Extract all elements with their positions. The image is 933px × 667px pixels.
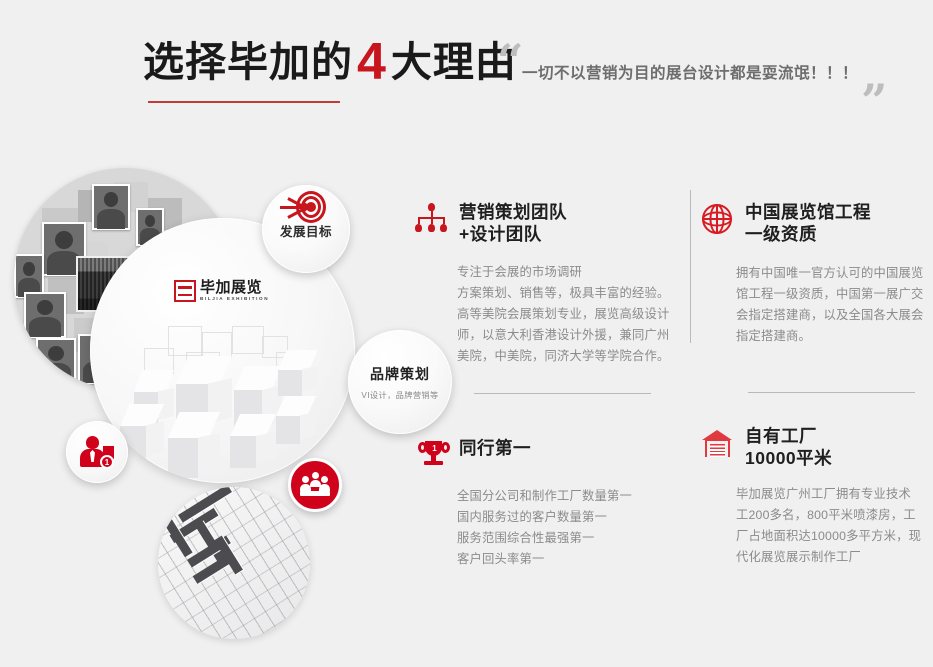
- page-title: 选择毕加的4大理由: [143, 36, 517, 88]
- title-line-1: 营销策划团队: [459, 202, 567, 222]
- feature-body-marketing: 专注于会展的市场调研 方案策划、销售等，极具丰富的经验。 高等美院会展策划专业，…: [457, 262, 654, 368]
- title-line-1: 自有工厂: [745, 426, 817, 446]
- title-line-1: 中国展览馆工程: [745, 202, 871, 222]
- title-underline: [148, 101, 340, 103]
- logo-name-cn: 毕加展览: [200, 280, 269, 295]
- feature-title-factory: 自有工厂 10000平米: [745, 425, 832, 470]
- body-line: 指定搭建商。: [736, 326, 915, 347]
- logo-name-en: BILJIA EXHIBITION: [200, 297, 269, 302]
- factory-icon: [700, 427, 734, 461]
- header-quote-text: 一切不以营销为目的展台设计都是耍流氓！！！: [522, 61, 858, 83]
- page-title-number: 4: [353, 33, 391, 91]
- photo-thumb: [92, 184, 130, 230]
- body-line: 厂占地面积达10000多平方米，现: [736, 526, 915, 547]
- badge-team[interactable]: [288, 458, 342, 512]
- body-line: 方案策划、销售等，极具丰富的经验。: [457, 283, 654, 304]
- body-line: 会指定搭建商，以及全国各大展会: [736, 305, 915, 326]
- column-divider: [690, 190, 691, 343]
- exhibition-cubes-graphic: [116, 326, 331, 476]
- body-line: 馆工程一级资质，中国第一展广交: [736, 284, 915, 305]
- trophy-icon: 1: [414, 439, 448, 473]
- body-line: 拥有中国唯一官方认可的中国展览: [736, 263, 915, 284]
- person-medal-icon: 1: [80, 436, 114, 468]
- feature-block-peer-first: 1 同行第一 全国分公司和制作工厂数量第一 国内服务过的客户数量第一 服务范围综…: [414, 437, 654, 571]
- badge-goal[interactable]: 发展目标: [262, 185, 350, 273]
- badge-brand-sublabel: VI设计，品牌营销等: [361, 389, 438, 401]
- feature-title-qualification: 中国展览馆工程 一级资质: [745, 201, 871, 246]
- body-line: 专注于会展的市场调研: [457, 262, 654, 283]
- feature-body-peer-first: 全国分公司和制作工厂数量第一 国内服务过的客户数量第一 服务范围综合性最强第一 …: [457, 486, 654, 571]
- body-line: 代化展览展示制作工厂: [736, 547, 915, 568]
- page-title-pre: 选择毕加的: [143, 39, 353, 85]
- photo-thumb: [36, 338, 76, 384]
- feature-title-marketing: 营销策划团队 +设计团队: [459, 201, 567, 246]
- feature-block-marketing: 营销策划团队 +设计团队 专注于会展的市场调研 方案策划、销售等，极具丰富的经验…: [414, 201, 654, 367]
- team-meeting-icon: [300, 474, 330, 496]
- body-line: 高等美院会展策划专业，展览高级设计: [457, 304, 654, 325]
- globe-icon: [700, 203, 734, 237]
- floorplan-graphic: [158, 487, 310, 639]
- quote-close-icon: ”: [861, 78, 887, 124]
- title-line-2: +设计团队: [459, 224, 542, 244]
- title-line-2: 一级资质: [745, 224, 817, 244]
- body-line: 客户回头率第一: [457, 549, 654, 570]
- body-line: 服务范围综合性最强第一: [457, 528, 654, 549]
- body-line: 工200多名，800平米喷漆房，工: [736, 505, 915, 526]
- promo-banner: 选择毕加的4大理由 “ 一切不以营销为目的展台设计都是耍流氓！！！ ”: [0, 0, 933, 667]
- feature-body-factory: 毕加展览广州工厂拥有专业技术 工200多名，800平米喷漆房，工 厂占地面积达1…: [736, 484, 915, 569]
- right-column-divider: [748, 392, 915, 393]
- body-line: 师，以意大利香港设计外援，兼同广州: [457, 325, 654, 346]
- badge-expert[interactable]: 1: [66, 421, 128, 483]
- brand-logo: 毕加展览 BILJIA EXHIBITION: [174, 280, 269, 302]
- body-line: 毕加展览广州工厂拥有专业技术: [736, 484, 915, 505]
- body-line: 国内服务过的客户数量第一: [457, 507, 654, 528]
- logo-mark-icon: [174, 280, 196, 302]
- feature-title-peer-first: 同行第一: [459, 437, 531, 459]
- feature-block-factory: 自有工厂 10000平米 毕加展览广州工厂拥有专业技术 工200多名，800平米…: [700, 425, 915, 568]
- feature-block-qualification: 中国展览馆工程 一级资质 拥有中国唯一官方认可的中国展览 馆工程一级资质，中国第…: [700, 201, 915, 347]
- floorplan-circle: [158, 487, 310, 639]
- feature-body-qualification: 拥有中国唯一官方认可的中国展览 馆工程一级资质，中国第一展广交 会指定搭建商，以…: [736, 263, 915, 348]
- body-line: 全国分公司和制作工厂数量第一: [457, 486, 654, 507]
- org-chart-icon: [414, 203, 448, 237]
- photo-thumb: [24, 292, 66, 338]
- target-icon: [280, 191, 326, 225]
- left-column-divider: [474, 393, 651, 394]
- title-line-2: 10000平米: [745, 448, 832, 468]
- quote-open-icon: “: [497, 38, 523, 84]
- body-line: 美院，中美院，同济大学等学院合作。: [457, 346, 654, 367]
